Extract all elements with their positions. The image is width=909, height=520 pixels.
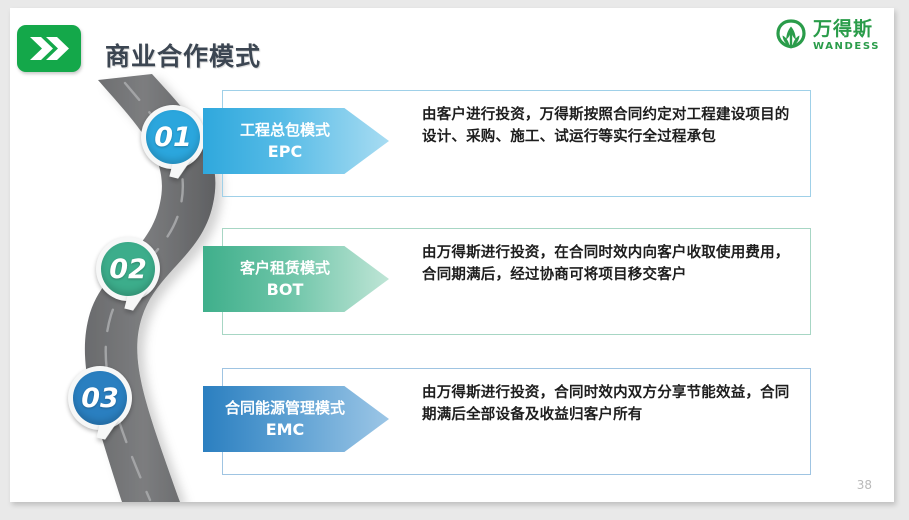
- step-marker-03: 03: [68, 366, 132, 430]
- mode-description-emc: 由万得斯进行投资，合同时效内双方分享节能效益，合同期满后全部设备及收益归客户所有: [422, 382, 799, 427]
- mode-name-en: EMC: [266, 420, 305, 440]
- mode-name-cn: 客户租赁模式: [240, 259, 330, 277]
- mode-row-emc[interactable]: 合同能源管理模式 EMC 由万得斯进行投资，合同时效内双方分享节能效益，合同期满…: [222, 368, 811, 475]
- brand-text: 万得斯 WANDESS: [813, 20, 880, 52]
- mode-name-cn: 合同能源管理模式: [225, 399, 345, 417]
- page-number: 38: [857, 478, 872, 492]
- slide-stage: 商业合作模式 万得斯 WANDESS: [0, 0, 909, 520]
- mode-description-bot: 由万得斯进行投资，在合同时效内向客户收取使用费用，合同期满后，经过协商可将项目移…: [422, 242, 799, 287]
- mode-row-bot[interactable]: 客户租赁模式 BOT 由万得斯进行投资，在合同时效内向客户收取使用费用，合同期满…: [222, 228, 811, 335]
- step-marker-01: 01: [141, 105, 205, 169]
- wandess-plant-logo-icon: [775, 18, 807, 54]
- mode-name-cn: 工程总包模式: [240, 121, 330, 139]
- mode-description-epc: 由客户进行投资，万得斯按照合同约定对工程建设项目的设计、采购、施工、试运行等实行…: [422, 104, 799, 149]
- mode-name-en: EPC: [268, 142, 302, 162]
- brand-name-cn: 万得斯: [813, 20, 880, 39]
- mode-name-en: BOT: [267, 280, 304, 300]
- brand-name-en: WANDESS: [813, 42, 880, 52]
- marker-number: 01: [141, 105, 205, 169]
- slide-canvas: 商业合作模式 万得斯 WANDESS: [10, 8, 894, 502]
- step-marker-02: 02: [96, 237, 160, 301]
- mode-row-epc[interactable]: 工程总包模式 EPC 由客户进行投资，万得斯按照合同约定对工程建设项目的设计、采…: [222, 90, 811, 197]
- marker-number: 03: [68, 366, 132, 430]
- marker-number: 02: [96, 237, 160, 301]
- brand-logo: 万得斯 WANDESS: [775, 18, 880, 54]
